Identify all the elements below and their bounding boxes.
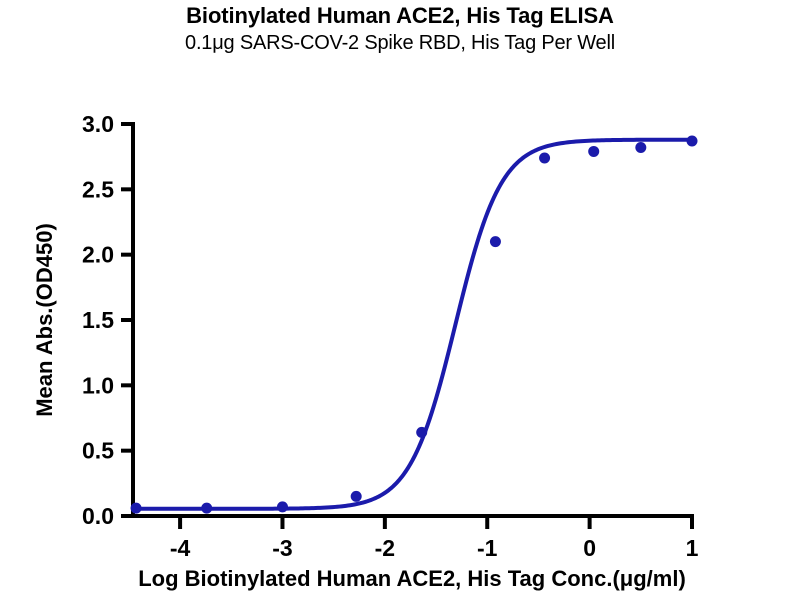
x-tick-label: -4 — [170, 535, 191, 561]
data-point — [635, 142, 646, 153]
y-tick-label: 3.0 — [82, 111, 114, 137]
data-point — [588, 146, 599, 157]
x-tick-label: 1 — [686, 535, 699, 561]
data-point — [131, 503, 142, 514]
x-axis-tick-labels: -4-3-2-101 — [170, 535, 699, 561]
data-point — [687, 135, 698, 146]
x-tick-label: -3 — [272, 535, 292, 561]
data-point — [277, 501, 288, 512]
x-tick-label: -1 — [477, 535, 498, 561]
data-point — [201, 503, 212, 514]
data-point — [416, 427, 427, 438]
x-tick-label: -2 — [375, 535, 395, 561]
y-axis: 0.00.51.01.52.02.53.0 Mean Abs.(OD450) — [32, 111, 133, 529]
data-point — [351, 491, 362, 502]
y-tick-label: 0.5 — [82, 438, 114, 464]
y-tick-label: 2.0 — [82, 242, 114, 268]
data-point — [490, 236, 501, 247]
y-tick-label: 0.0 — [82, 503, 114, 529]
y-tick-label: 2.5 — [82, 176, 114, 202]
data-point — [539, 152, 550, 163]
x-axis-title: Log Biotinylated Human ACE2, His Tag Con… — [138, 566, 686, 591]
y-tick-label: 1.5 — [82, 307, 114, 333]
x-axis: -4-3-2-101 Log Biotinylated Human ACE2, … — [133, 516, 699, 591]
y-axis-tick-labels: 0.00.51.01.52.02.53.0 — [82, 111, 114, 529]
y-tick-label: 1.0 — [82, 372, 114, 398]
y-axis-title: Mean Abs.(OD450) — [32, 223, 57, 417]
elisa-chart-figure: Biotinylated Human ACE2, His Tag ELISA 0… — [0, 0, 800, 600]
x-tick-label: 0 — [583, 535, 596, 561]
chart-canvas: 0.00.51.01.52.02.53.0 Mean Abs.(OD450) -… — [0, 0, 800, 600]
sigmoid-fit-curve — [133, 140, 692, 509]
